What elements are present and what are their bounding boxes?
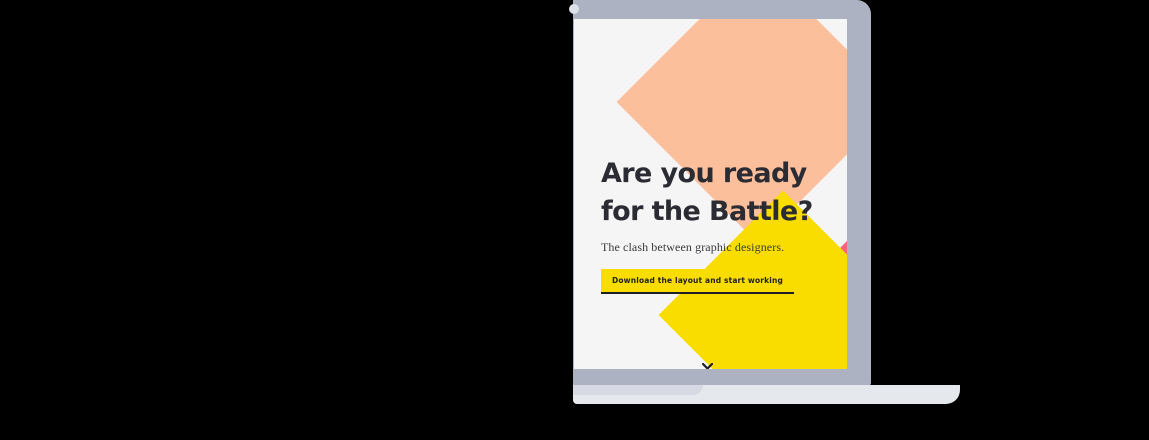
scroll-down-button[interactable] <box>700 359 714 369</box>
download-layout-button[interactable]: Download the layout and start working <box>601 269 794 294</box>
laptop-mockup: Are you ready for the Battle? The clash … <box>0 0 1149 440</box>
laptop-base-shadow <box>573 385 703 395</box>
cta-wrapper: Download the layout and start working <box>601 269 794 294</box>
hero-content: Are you ready for the Battle? The clash … <box>601 155 847 294</box>
screenshot-canvas: Are you ready for the Battle? The clash … <box>0 0 1149 440</box>
laptop-screen: Are you ready for the Battle? The clash … <box>574 19 847 369</box>
page-title: Are you ready for the Battle? <box>601 155 846 231</box>
chevron-down-icon <box>702 363 713 370</box>
page-subtitle: The clash between graphic designers. <box>601 240 847 255</box>
webcam-dot-icon <box>569 4 579 14</box>
